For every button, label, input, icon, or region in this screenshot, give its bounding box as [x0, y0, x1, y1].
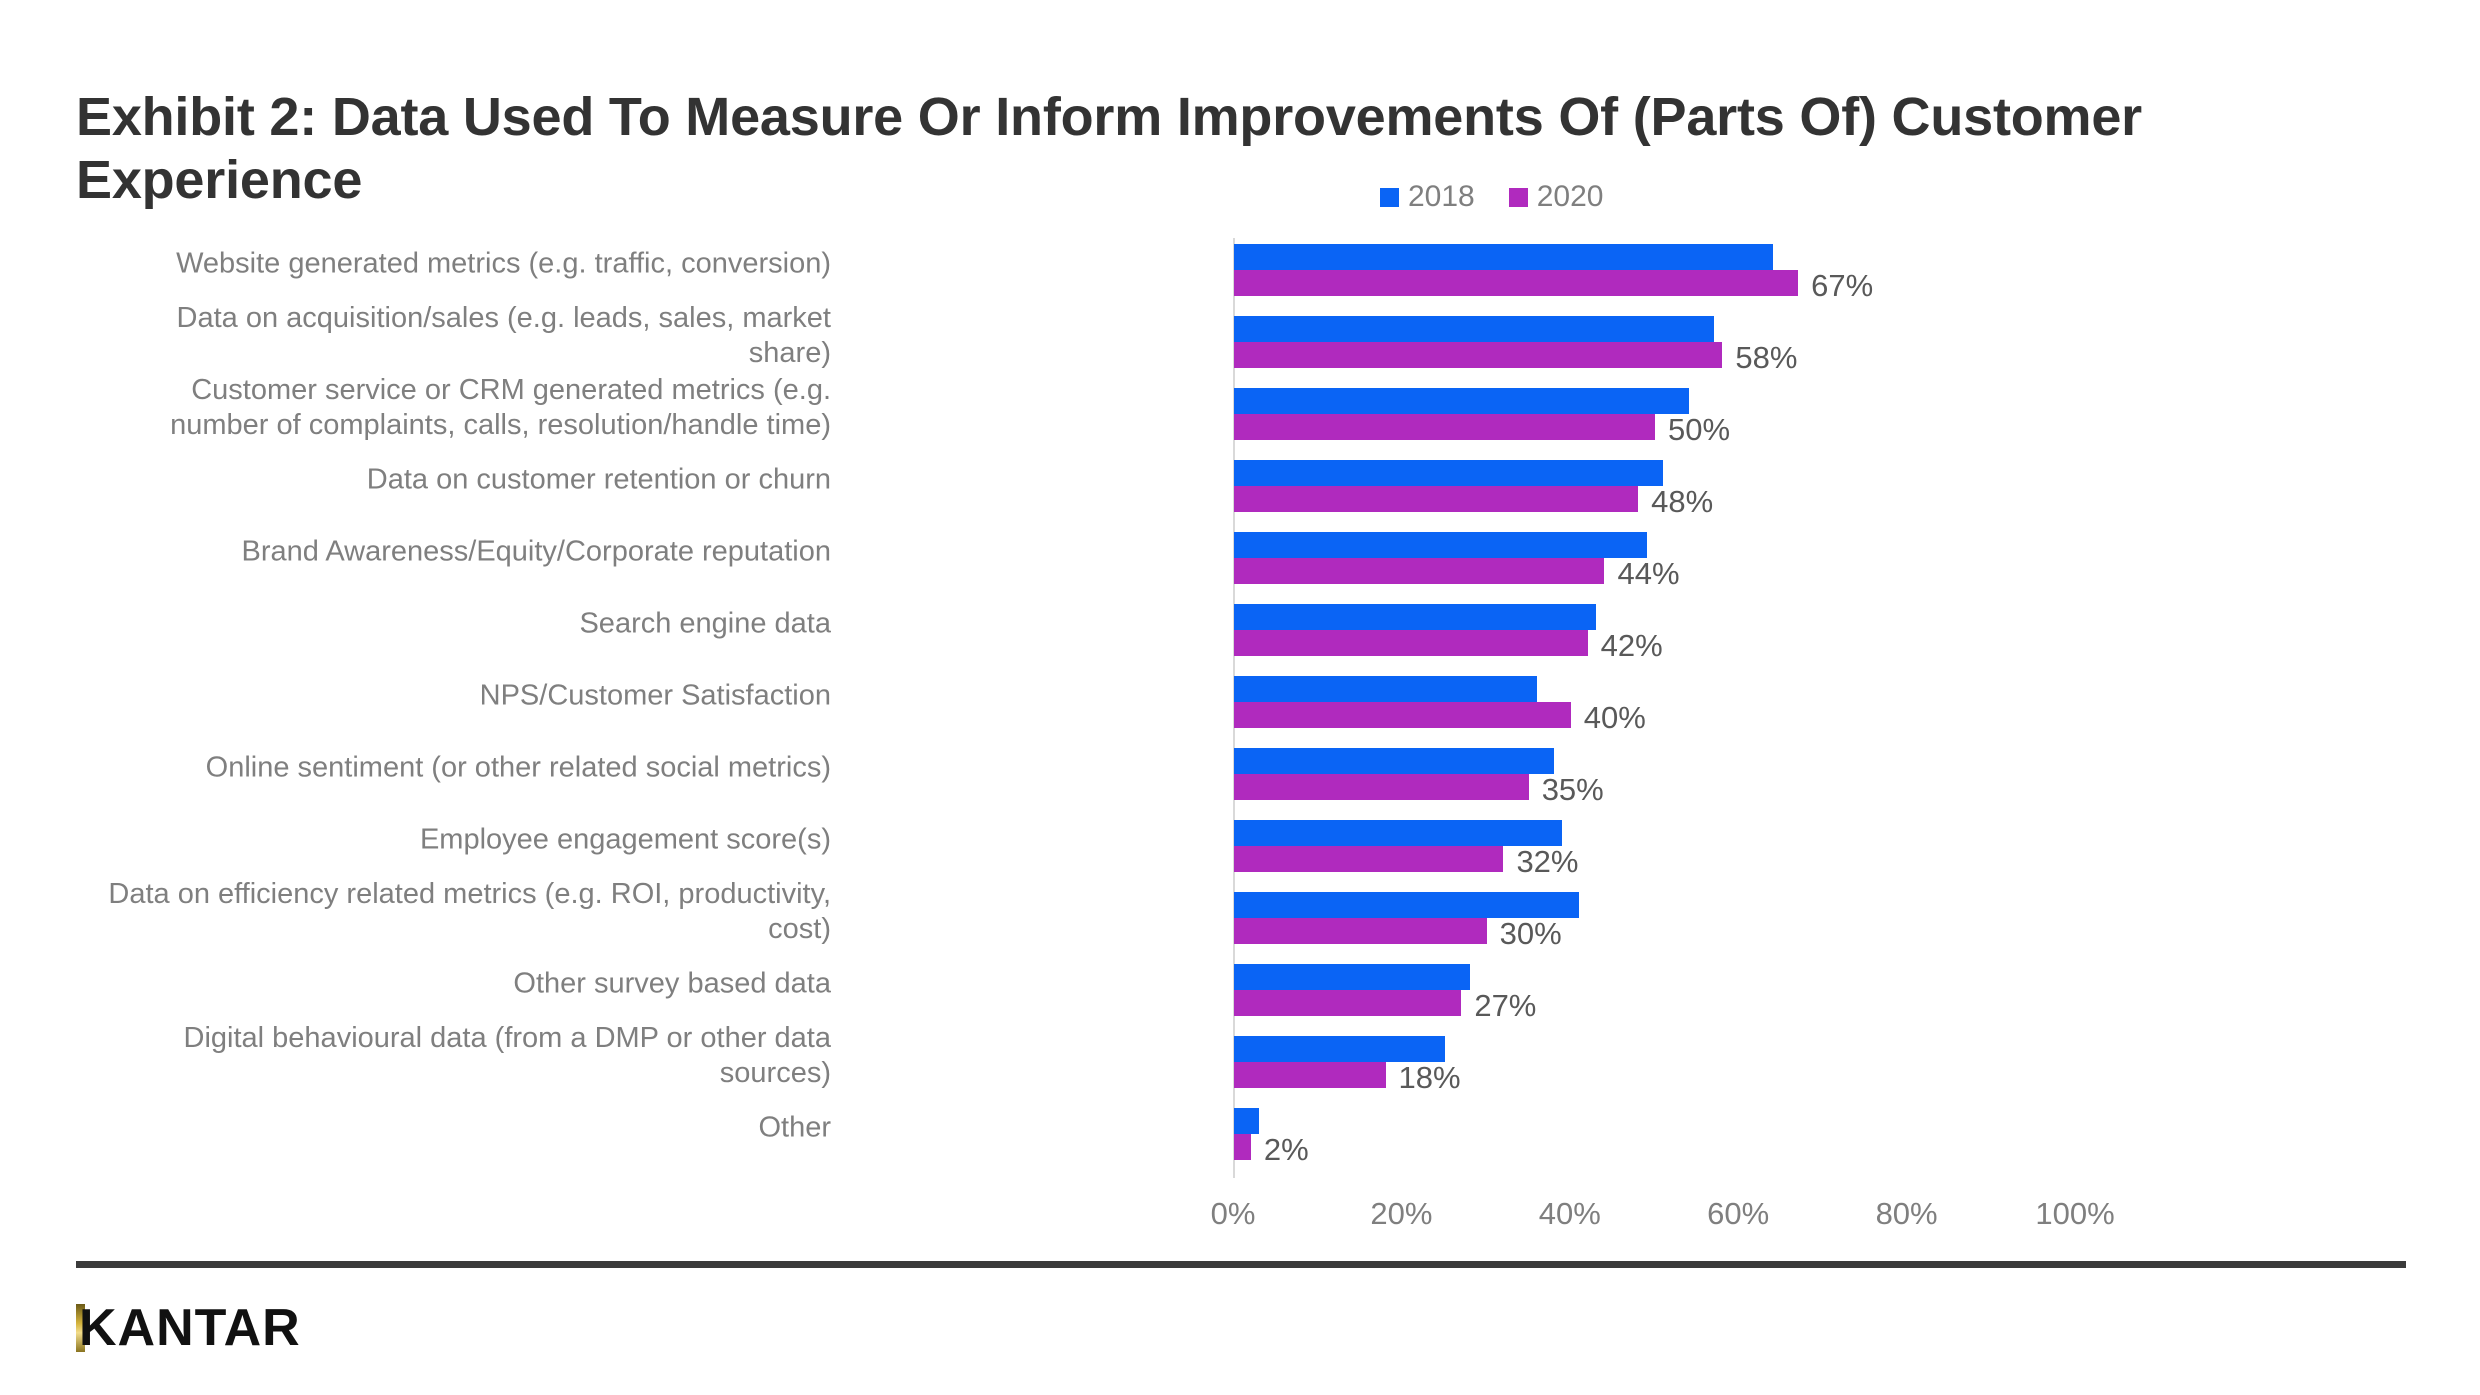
bar-2020[interactable] — [1234, 774, 1529, 800]
bar-2020[interactable] — [1234, 702, 1571, 728]
category-label: Customer service or CRM generated metric… — [91, 373, 831, 443]
bar-2018[interactable] — [1234, 1108, 1259, 1134]
bar-value-label: 50% — [1668, 412, 1730, 448]
category-label: Data on acquisition/sales (e.g. leads, s… — [91, 301, 831, 371]
bar-group — [1234, 676, 1571, 728]
bar-2020[interactable] — [1234, 918, 1487, 944]
bar-chart: Website generated metrics (e.g. traffic,… — [0, 238, 2480, 1178]
bar-value-label: 48% — [1651, 484, 1713, 520]
bar-value-label: 67% — [1811, 268, 1873, 304]
bar-group — [1234, 820, 1562, 872]
bar-value-label: 35% — [1542, 772, 1604, 808]
category-label: Search engine data — [91, 607, 831, 642]
category-label: Other survey based data — [91, 967, 831, 1002]
legend-item-2020[interactable]: 2020 — [1509, 180, 1604, 214]
bar-2018[interactable] — [1234, 388, 1689, 414]
x-axis-tick: 0% — [1211, 1196, 1256, 1232]
bar-2018[interactable] — [1234, 460, 1663, 486]
legend-label-2020: 2020 — [1537, 180, 1604, 214]
bar-group — [1234, 964, 1470, 1016]
category-label: Data on efficiency related metrics (e.g.… — [91, 877, 831, 947]
bar-value-label: 42% — [1601, 628, 1663, 664]
x-axis-tick: 40% — [1539, 1196, 1601, 1232]
bar-2018[interactable] — [1234, 1036, 1445, 1062]
x-axis-tick: 80% — [1876, 1196, 1938, 1232]
bar-value-label: 40% — [1584, 700, 1646, 736]
category-label: Data on customer retention or churn — [91, 463, 831, 498]
bar-2018[interactable] — [1234, 964, 1470, 990]
category-label: NPS/Customer Satisfaction — [91, 679, 831, 714]
bar-group — [1234, 604, 1596, 656]
legend-label-2018: 2018 — [1408, 180, 1475, 214]
bar-2018[interactable] — [1234, 676, 1537, 702]
bar-2020[interactable] — [1234, 630, 1588, 656]
bar-value-label: 58% — [1735, 340, 1797, 376]
bar-2018[interactable] — [1234, 532, 1647, 558]
x-axis-tick: 60% — [1707, 1196, 1769, 1232]
legend-swatch-2018 — [1380, 188, 1399, 207]
bar-group — [1234, 316, 1722, 368]
bar-2020[interactable] — [1234, 846, 1503, 872]
bar-2018[interactable] — [1234, 244, 1773, 270]
bar-group — [1234, 388, 1689, 440]
bar-2020[interactable] — [1234, 1062, 1386, 1088]
bar-2018[interactable] — [1234, 892, 1579, 918]
bar-2020[interactable] — [1234, 342, 1722, 368]
category-label: Website generated metrics (e.g. traffic,… — [91, 247, 831, 282]
bar-group — [1234, 460, 1663, 512]
bar-value-label: 27% — [1474, 988, 1536, 1024]
bar-2018[interactable] — [1234, 604, 1596, 630]
bar-value-label: 2% — [1264, 1132, 1309, 1168]
logo-text: KANTAR — [79, 1298, 301, 1358]
bar-value-label: 32% — [1516, 844, 1578, 880]
category-label: Other — [91, 1111, 831, 1146]
bar-group — [1234, 532, 1647, 584]
category-label: Online sentiment (or other related socia… — [91, 751, 831, 786]
footer-divider — [76, 1261, 2406, 1268]
legend-item-2018[interactable]: 2018 — [1380, 180, 1475, 214]
bar-2020[interactable] — [1234, 486, 1638, 512]
bar-2020[interactable] — [1234, 558, 1604, 584]
x-axis: 0%20%40%60%80%100% — [1233, 1196, 2080, 1246]
bar-2020[interactable] — [1234, 1134, 1251, 1160]
x-axis-tick: 100% — [2035, 1196, 2114, 1232]
chart-legend: 2018 2020 — [1380, 180, 1604, 214]
bar-group — [1234, 244, 1798, 296]
page-title: Exhibit 2: Data Used To Measure Or Infor… — [76, 86, 2256, 211]
bar-2020[interactable] — [1234, 270, 1798, 296]
bar-2018[interactable] — [1234, 748, 1554, 774]
bar-2018[interactable] — [1234, 316, 1714, 342]
x-axis-tick: 20% — [1370, 1196, 1432, 1232]
category-label: Employee engagement score(s) — [91, 823, 831, 858]
category-label: Brand Awareness/Equity/Corporate reputat… — [91, 535, 831, 570]
category-label: Digital behavioural data (from a DMP or … — [91, 1021, 831, 1091]
bar-group — [1234, 1108, 1259, 1160]
bar-value-label: 44% — [1617, 556, 1679, 592]
legend-swatch-2020 — [1509, 188, 1528, 207]
bar-value-label: 18% — [1399, 1060, 1461, 1096]
bar-group — [1234, 748, 1554, 800]
bar-2018[interactable] — [1234, 820, 1562, 846]
bar-2020[interactable] — [1234, 414, 1655, 440]
kantar-logo: KANTAR — [76, 1300, 301, 1356]
bar-value-label: 30% — [1500, 916, 1562, 952]
plot-area: Website generated metrics (e.g. traffic,… — [1233, 238, 2080, 1178]
bar-2020[interactable] — [1234, 990, 1461, 1016]
